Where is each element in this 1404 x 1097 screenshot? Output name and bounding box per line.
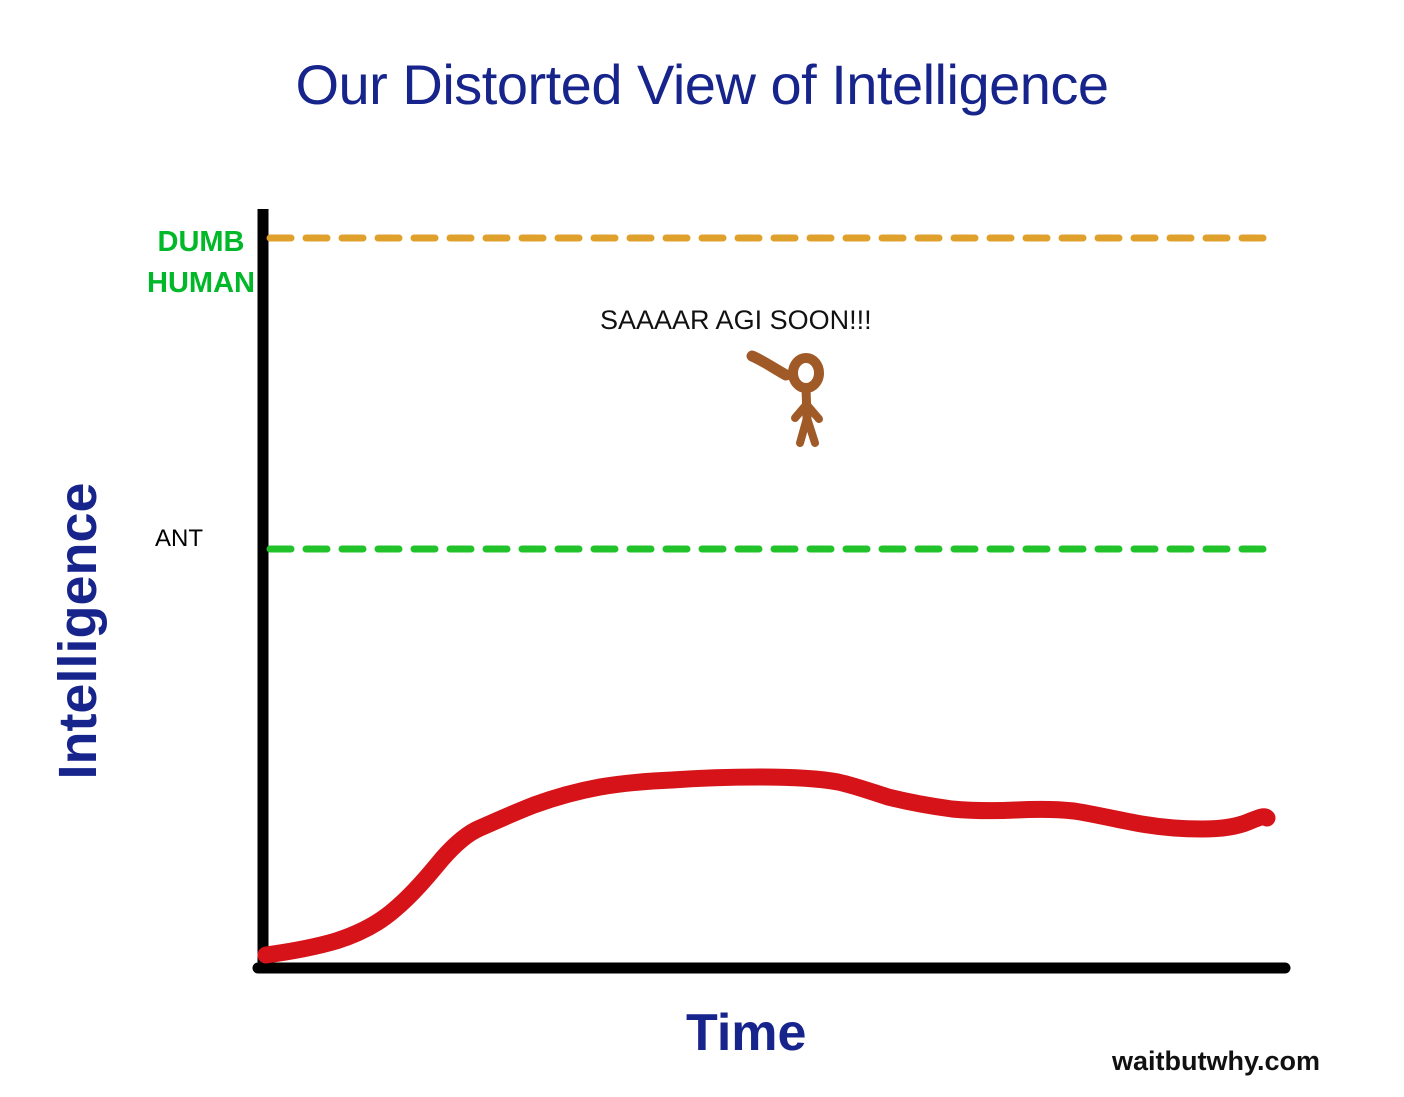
x-axis-title: Time bbox=[686, 1003, 806, 1063]
stick-figure-leg-right-icon bbox=[807, 418, 815, 443]
page-title: Our Distorted View of Intelligence bbox=[0, 52, 1404, 117]
watermark: waitbutwhy.com bbox=[1112, 1046, 1320, 1077]
stick-figure-arm-icon bbox=[752, 356, 786, 375]
annotation-text: SAAAAR AGI SOON!!! bbox=[600, 305, 872, 336]
level-label-dumb-human-line2: HUMAN bbox=[145, 263, 257, 304]
level-label-ant: ANT bbox=[155, 525, 203, 553]
level-label-dumb-human-line1: DUMB bbox=[145, 222, 257, 263]
chart-canvas: Our Distorted View of Intelligence Intel… bbox=[0, 0, 1404, 1097]
intelligence-curve bbox=[266, 777, 1267, 955]
level-label-dumb-human: DUMB HUMAN bbox=[145, 222, 257, 304]
y-axis-title: Intelligence bbox=[47, 441, 109, 821]
stick-figure-head-icon bbox=[793, 358, 819, 388]
chart-graphic bbox=[0, 0, 1404, 1097]
